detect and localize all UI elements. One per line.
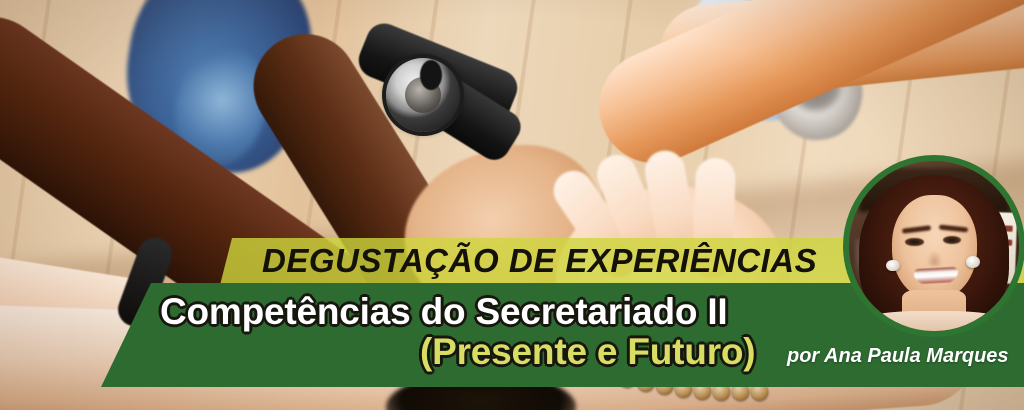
event-promo-banner: DEGUSTAÇÃO DE EXPERIÊNCIAS Competências … [0, 0, 1024, 410]
speaker-byline: por Ana Paula Marques [787, 345, 1009, 368]
title-line-1: Competências do Secretariado II [160, 291, 727, 333]
portrait-shoulders [866, 311, 1002, 331]
portrait-eye-left [905, 238, 924, 247]
speaker-portrait-avatar [843, 155, 1024, 337]
portrait-face [892, 195, 977, 300]
portrait-nose [927, 251, 942, 266]
title-line-2: (Presente e Futuro) [420, 331, 755, 373]
eyebrow-text: DEGUSTAÇÃO DE EXPERIÊNCIAS [262, 242, 817, 280]
portrait-earring-right [966, 256, 980, 268]
